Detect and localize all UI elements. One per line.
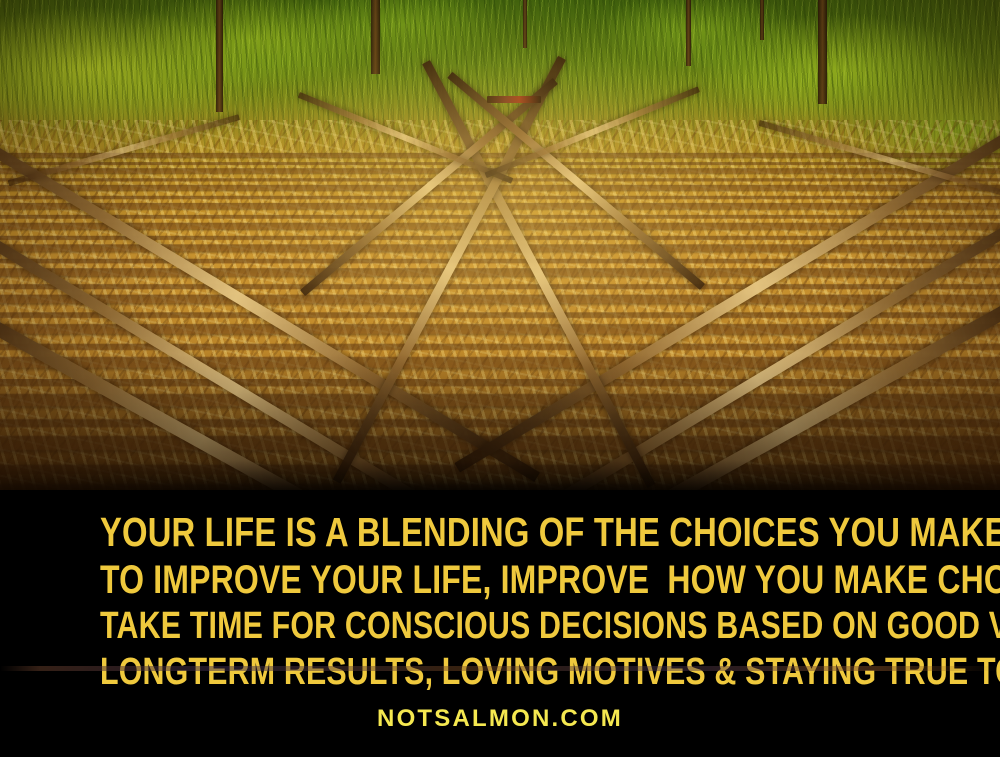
railroad-tracks-photo [0,0,1000,490]
quote-line-2: TO IMPROVE YOUR LIFE, IMPROVE HOW YOU MA… [100,560,900,600]
quote-line-3: TAKE TIME FOR CONSCIOUS DECISIONS BASED … [100,607,900,645]
quote-poster: YOUR LIFE IS A BLENDING OF THE CHOICES Y… [0,0,1000,757]
quote-block: YOUR LIFE IS A BLENDING OF THE CHOICES Y… [0,512,1000,691]
quote-line-4: LONGTERM RESULTS, LOVING MOTIVES & STAYI… [100,653,900,691]
photo-color-grade [0,0,1000,490]
attribution-notsalmon: NOTSALMON.COM [0,705,1000,733]
quote-line-1: YOUR LIFE IS A BLENDING OF THE CHOICES Y… [100,512,900,553]
